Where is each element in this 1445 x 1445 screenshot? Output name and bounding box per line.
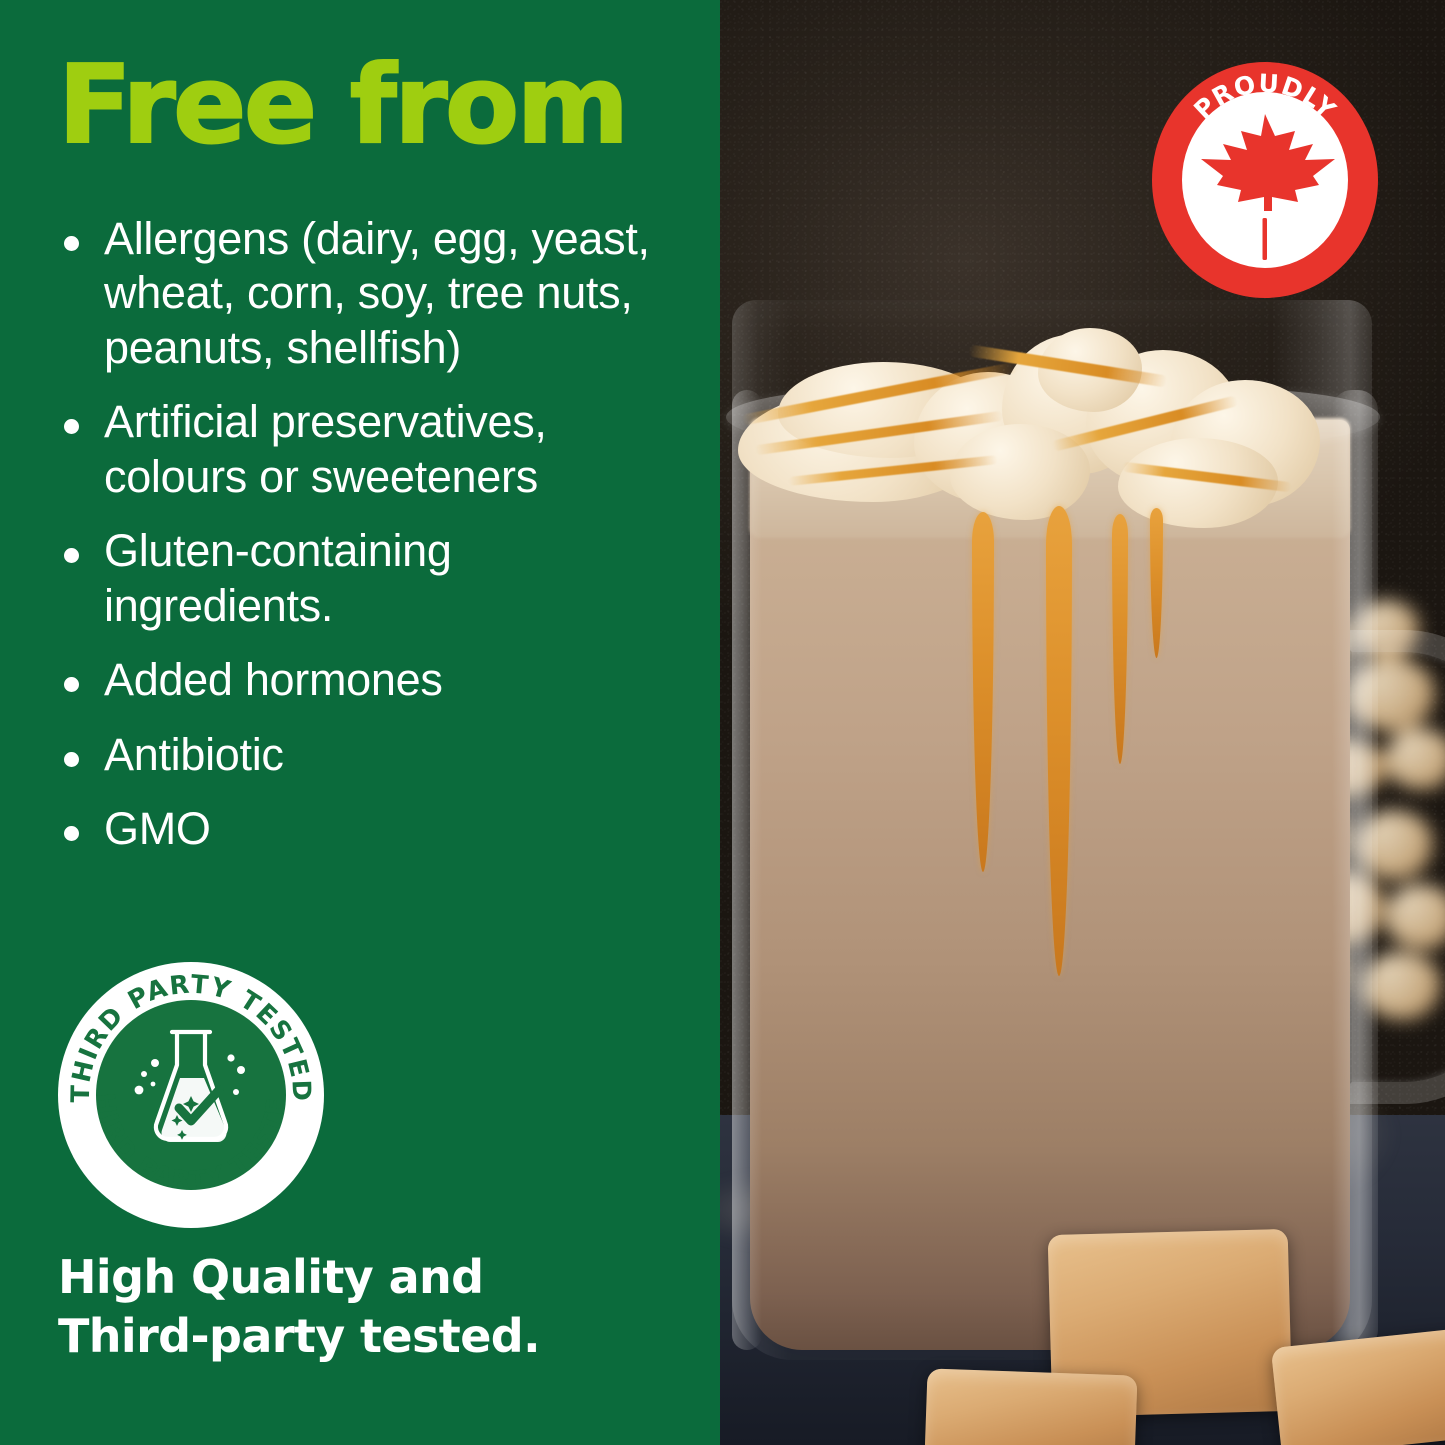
product-info-panel: Free from Allergens (dairy, egg, yeast, … (0, 0, 1445, 1445)
third-party-tested-badge: THIRD PARTY TESTED THIRD PARTY TESTED (58, 962, 324, 1228)
free-from-panel: Free from Allergens (dairy, egg, yeast, … (0, 0, 720, 1445)
mug-right-highlight (1332, 390, 1378, 1350)
list-item-label: Artificial preservatives, colours or swe… (104, 396, 547, 501)
list-item: Gluten-containing ingredients. (56, 524, 676, 633)
list-item-label: Allergens (dairy, egg, yeast, wheat, cor… (104, 213, 650, 373)
list-item: Artificial preservatives, colours or swe… (56, 395, 676, 504)
glass-mug (732, 300, 1392, 1380)
caramel-candy (1271, 1328, 1445, 1445)
list-item-label: Antibiotic (104, 729, 284, 780)
list-item-label: Added hormones (104, 654, 443, 705)
quality-caption: High Quality and Third-party tested. (58, 1248, 540, 1366)
list-item: Added hormones (56, 653, 676, 707)
caramel-candy (924, 1368, 1137, 1445)
list-item: GMO (56, 802, 676, 856)
product-photo-panel: PROUDLY CANADIAN (720, 0, 1445, 1445)
free-from-list: Allergens (dairy, egg, yeast, wheat, cor… (56, 212, 676, 876)
list-item-label: GMO (104, 803, 211, 854)
page-title: Free from (58, 52, 627, 160)
caramel-latte-photo: PROUDLY CANADIAN (720, 0, 1445, 1445)
quality-caption-line2: Third-party tested. (58, 1307, 540, 1366)
list-item: Allergens (dairy, egg, yeast, wheat, cor… (56, 212, 676, 375)
mug-left-highlight (732, 390, 762, 1350)
quality-caption-line1: High Quality and (58, 1248, 540, 1307)
list-item: Antibiotic (56, 728, 676, 782)
list-item-label: Gluten-containing ingredients. (104, 525, 452, 630)
proudly-canadian-badge: PROUDLY CANADIAN (1152, 62, 1378, 298)
